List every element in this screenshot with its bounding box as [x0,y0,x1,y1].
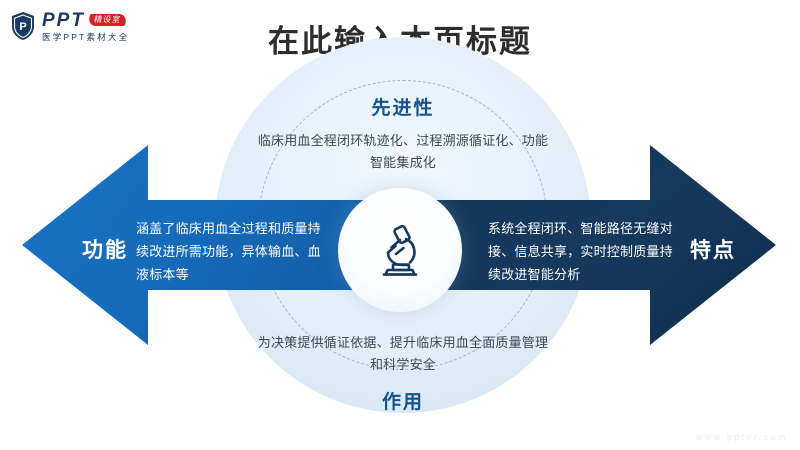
watermark: www.ppter.com [696,432,788,442]
slide-canvas: P PPT 精设室 医学PPT素材大全 在此输入本页标题 [0,0,800,450]
right-arrow-text: 系统全程闭环、智能路径无缝对接、信息共享，实时控制质量持续改进智能分析 [488,218,678,286]
bottom-block: 为决策提供循证依据、提升临床用血全面质量管理和科学安全 作用 [253,332,553,414]
microscope-icon [365,215,435,285]
left-arrow-text: 涵盖了临床用血全过程和质量持续改进所需功能，异体输血、血液标本等 [136,218,326,286]
right-arrow-label: 特点 [668,234,758,264]
bottom-block-heading: 作用 [253,387,553,414]
top-block-heading: 先进性 [253,93,553,120]
top-block: 先进性 临床用血全程闭环轨迹化、过程溯源循证化、功能智能集成化 [253,93,553,175]
bottom-block-text: 为决策提供循证依据、提升临床用血全面质量管理和科学安全 [253,332,553,377]
top-block-text: 临床用血全程闭环轨迹化、过程溯源循证化、功能智能集成化 [253,130,553,175]
